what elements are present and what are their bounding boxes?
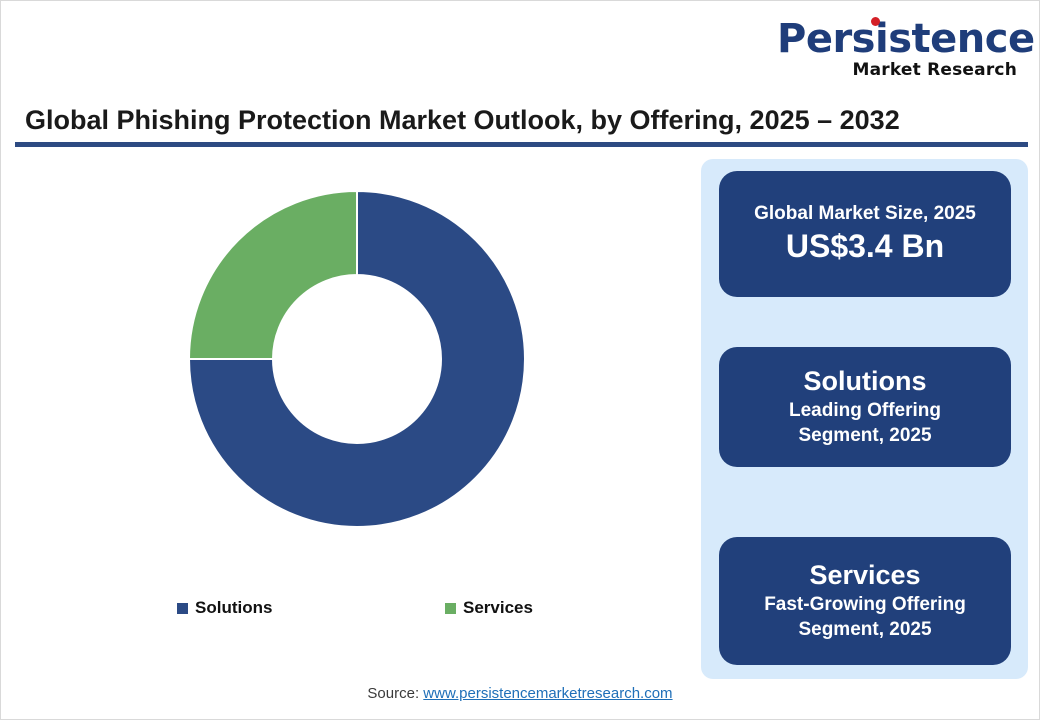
title-underline-rule [15, 142, 1028, 147]
infographic-page: Persistence Market Research Global Phish… [0, 0, 1040, 720]
card-heading: Global Market Size, 2025 [754, 202, 976, 226]
brand-logo-name: Persistence [777, 16, 1035, 62]
card-subtitle-line-1: Fast-Growing Offering [764, 592, 966, 618]
highlights-panel: Global Market Size, 2025 US$3.4 Bn Solut… [701, 159, 1028, 679]
donut-slice-services[interactable] [189, 191, 357, 359]
square-swatch-icon [445, 603, 456, 614]
card-subtitle-line-1: Leading Offering [789, 398, 941, 424]
red-dot-icon [871, 17, 880, 26]
brand-logo-tagline: Market Research [777, 62, 1017, 79]
card-title: Solutions [804, 365, 927, 397]
legend-item-label: Services [463, 598, 533, 618]
chart-legend: Solutions Services [15, 593, 691, 623]
page-title: Global Phishing Protection Market Outloo… [25, 105, 1025, 136]
highlight-card-leading-segment: Solutions Leading Offering Segment, 2025 [719, 347, 1011, 467]
card-value: US$3.4 Bn [786, 226, 944, 266]
donut-chart-area: Solutions Services [15, 159, 691, 659]
square-swatch-icon [177, 603, 188, 614]
card-subtitle-line-2: Segment, 2025 [798, 423, 931, 449]
donut-chart-svg [189, 191, 525, 527]
legend-item-solutions[interactable]: Solutions [177, 593, 272, 623]
source-link[interactable]: www.persistencemarketresearch.com [423, 685, 672, 702]
card-title: Services [809, 559, 920, 591]
source-line: Source: www.persistencemarketresearch.co… [1, 685, 1039, 702]
card-subtitle-line-2: Segment, 2025 [798, 617, 931, 643]
legend-item-services[interactable]: Services [445, 593, 533, 623]
source-prefix-label: Source: [367, 685, 423, 702]
highlight-card-fastest-segment: Services Fast-Growing Offering Segment, … [719, 537, 1011, 665]
legend-item-label: Solutions [195, 598, 272, 618]
donut-chart [189, 191, 525, 527]
highlight-card-market-size: Global Market Size, 2025 US$3.4 Bn [719, 171, 1011, 297]
brand-logo-wordmark: Persistence [777, 19, 1035, 59]
brand-logo: Persistence Market Research [777, 19, 1017, 79]
